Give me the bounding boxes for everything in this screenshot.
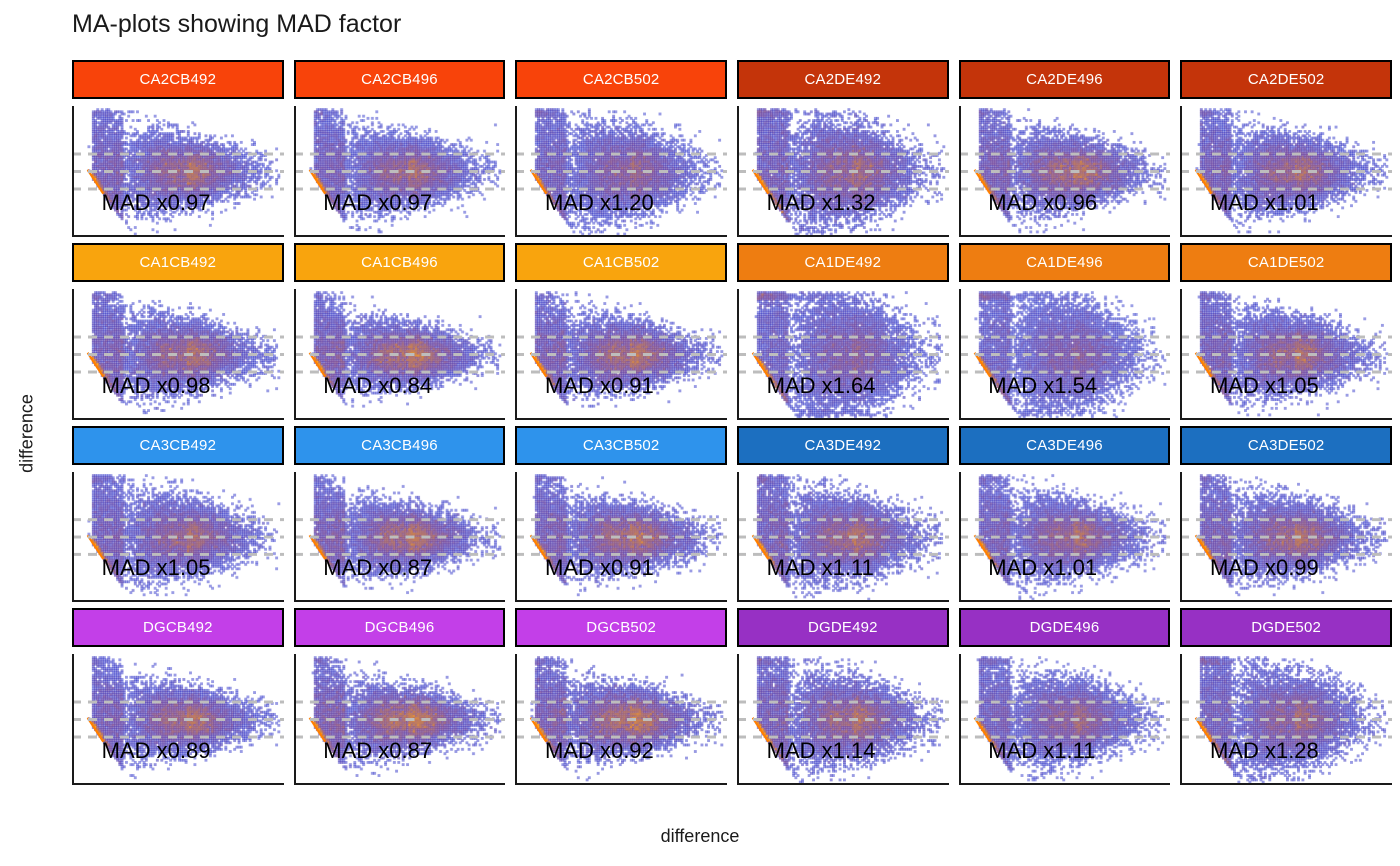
facet-strip-label: CA1CB502 — [583, 254, 660, 271]
facet-strip-dgde502: DGDE502 — [1180, 608, 1392, 647]
panel-left-spine — [959, 289, 961, 420]
facet-strip-label: CA2DE502 — [1248, 71, 1325, 88]
panel-bottom-spine — [959, 418, 1171, 420]
plot-area: MAD x0.84 — [294, 289, 506, 420]
facet-strip-ca3cb496: CA3CB496 — [294, 426, 506, 465]
facet-strip-label: CA3CB502 — [583, 437, 660, 454]
facet-panel-dgcb492: DGCB492MAD x0.89630-3-605101520 — [72, 608, 284, 785]
scatter-density-canvas — [72, 289, 284, 420]
plot-area: MAD x0.9205101520 — [515, 654, 727, 785]
scatter-density-canvas — [294, 106, 506, 237]
panel-bottom-spine — [294, 418, 506, 420]
facet-panel-ca3cb502: CA3CB502MAD x0.91 — [515, 426, 727, 603]
facet-strip-label: CA2CB502 — [583, 71, 660, 88]
plot-area: MAD x0.96 — [959, 106, 1171, 237]
scatter-density-canvas — [959, 289, 1171, 420]
facet-panel-ca1cb502: CA1CB502MAD x0.91 — [515, 243, 727, 420]
panel-bottom-spine — [1180, 418, 1392, 420]
plot-area: MAD x1.64 — [737, 289, 949, 420]
scatter-density-canvas — [959, 654, 1171, 785]
plot-area: MAD x1.54 — [959, 289, 1171, 420]
scatter-density-canvas — [294, 289, 506, 420]
facet-strip-label: DGCB502 — [586, 619, 656, 636]
plot-area: MAD x1.32 — [737, 106, 949, 237]
facet-strip-label: DGDE496 — [1030, 619, 1100, 636]
facet-panel-dgcb496: DGCB496MAD x0.8705101520 — [294, 608, 506, 785]
panel-left-spine — [72, 472, 74, 603]
panel-left-spine — [737, 106, 739, 237]
scatter-density-canvas — [294, 472, 506, 603]
facet-strip-ca2cb492: CA2CB492 — [72, 60, 284, 99]
facet-panel-ca2de496: CA2DE496MAD x0.96 — [959, 60, 1171, 237]
panel-bottom-spine — [294, 235, 506, 237]
panel-left-spine — [515, 106, 517, 237]
facet-strip-label: DGCB492 — [143, 619, 213, 636]
panel-left-spine — [1180, 472, 1182, 603]
panel-left-spine — [515, 289, 517, 420]
facet-strip-ca3de496: CA3DE496 — [959, 426, 1171, 465]
facet-panel-ca2cb492: CA2CB492MAD x0.97630-3-6 — [72, 60, 284, 237]
facet-strip-label: CA1DE502 — [1248, 254, 1325, 271]
panel-bottom-spine — [737, 600, 949, 602]
plot-area: MAD x0.91 — [515, 289, 727, 420]
plot-area: MAD x1.01 — [1180, 106, 1392, 237]
x-axis-title: difference — [0, 826, 1400, 847]
panel-bottom-spine — [959, 235, 1171, 237]
facet-strip-label: CA2CB492 — [140, 71, 217, 88]
facet-strip-ca2cb502: CA2CB502 — [515, 60, 727, 99]
plot-area: MAD x1.05 — [1180, 289, 1392, 420]
facet-panel-dgcb502: DGCB502MAD x0.9205101520 — [515, 608, 727, 785]
facet-strip-ca1de496: CA1DE496 — [959, 243, 1171, 282]
scatter-density-canvas — [737, 472, 949, 603]
facet-strip-ca1cb502: CA1CB502 — [515, 243, 727, 282]
plot-area: MAD x1.2805101520 — [1180, 654, 1392, 785]
facet-panel-ca3de496: CA3DE496MAD x1.01 — [959, 426, 1171, 603]
facet-panel-ca2cb496: CA2CB496MAD x0.97 — [294, 60, 506, 237]
plot-area: MAD x0.8705101520 — [294, 654, 506, 785]
facet-panel-ca3de492: CA3DE492MAD x1.11 — [737, 426, 949, 603]
plot-area: MAD x1.05630-3-6 — [72, 472, 284, 603]
panel-left-spine — [294, 654, 296, 785]
scatter-density-canvas — [515, 472, 727, 603]
plot-area: MAD x0.98630-3-6 — [72, 289, 284, 420]
facet-strip-label: CA3DE496 — [1026, 437, 1103, 454]
facet-strip-label: CA2DE492 — [805, 71, 882, 88]
facet-strip-ca2de502: CA2DE502 — [1180, 60, 1392, 99]
facet-strip-ca3de502: CA3DE502 — [1180, 426, 1392, 465]
facet-strip-dgcb496: DGCB496 — [294, 608, 506, 647]
facet-panel-ca1de496: CA1DE496MAD x1.54 — [959, 243, 1171, 420]
facet-panel-dgde492: DGDE492MAD x1.1405101520 — [737, 608, 949, 785]
plot-area: MAD x0.87 — [294, 472, 506, 603]
facet-strip-label: DGCB496 — [365, 619, 435, 636]
panel-bottom-spine — [72, 418, 284, 420]
facet-strip-ca3de492: CA3DE492 — [737, 426, 949, 465]
panel-bottom-spine — [1180, 600, 1392, 602]
panel-bottom-spine — [72, 235, 284, 237]
facet-grid: CA2CB492MAD x0.97630-3-6CA2CB496MAD x0.9… — [72, 60, 1392, 785]
facet-strip-label: CA1CB492 — [140, 254, 217, 271]
plot-area: MAD x0.91 — [515, 472, 727, 603]
facet-strip-ca1de492: CA1DE492 — [737, 243, 949, 282]
facet-strip-label: CA3CB496 — [361, 437, 438, 454]
panel-left-spine — [959, 654, 961, 785]
facet-strip-ca2de496: CA2DE496 — [959, 60, 1171, 99]
y-axis-title: difference — [17, 224, 38, 644]
panel-left-spine — [294, 472, 296, 603]
page-title: MA-plots showing MAD factor — [72, 8, 401, 40]
plot-area: MAD x1.11 — [737, 472, 949, 603]
scatter-density-canvas — [959, 106, 1171, 237]
scatter-density-canvas — [1180, 106, 1392, 237]
scatter-density-canvas — [515, 106, 727, 237]
facet-panel-ca2de502: CA2DE502MAD x1.01 — [1180, 60, 1392, 237]
facet-panel-ca1de492: CA1DE492MAD x1.64 — [737, 243, 949, 420]
scatter-density-canvas — [515, 654, 727, 785]
panel-left-spine — [72, 106, 74, 237]
facet-panel-ca1de502: CA1DE502MAD x1.05 — [1180, 243, 1392, 420]
facet-panel-ca2cb502: CA2CB502MAD x1.20 — [515, 60, 727, 237]
facet-panel-ca1cb492: CA1CB492MAD x0.98630-3-6 — [72, 243, 284, 420]
facet-panel-dgde502: DGDE502MAD x1.2805101520 — [1180, 608, 1392, 785]
plot-area: MAD x0.97 — [294, 106, 506, 237]
scatter-density-canvas — [294, 654, 506, 785]
panel-left-spine — [294, 289, 296, 420]
panel-left-spine — [959, 472, 961, 603]
panel-left-spine — [737, 289, 739, 420]
facet-strip-dgcb502: DGCB502 — [515, 608, 727, 647]
plot-area: MAD x1.01 — [959, 472, 1171, 603]
facet-strip-label: CA1CB496 — [361, 254, 438, 271]
scatter-density-canvas — [72, 106, 284, 237]
facet-panel-dgde496: DGDE496MAD x1.1105101520 — [959, 608, 1171, 785]
scatter-density-canvas — [737, 289, 949, 420]
facet-strip-ca1cb496: CA1CB496 — [294, 243, 506, 282]
panel-bottom-spine — [515, 600, 727, 602]
facet-strip-label: CA2DE496 — [1026, 71, 1103, 88]
facet-strip-dgde496: DGDE496 — [959, 608, 1171, 647]
plot-area: MAD x1.20 — [515, 106, 727, 237]
plot-area: MAD x0.99 — [1180, 472, 1392, 603]
panel-bottom-spine — [515, 235, 727, 237]
panel-left-spine — [515, 472, 517, 603]
scatter-density-canvas — [515, 289, 727, 420]
facet-strip-dgde492: DGDE492 — [737, 608, 949, 647]
scatter-density-canvas — [72, 472, 284, 603]
facet-strip-ca2cb496: CA2CB496 — [294, 60, 506, 99]
facet-strip-ca1cb492: CA1CB492 — [72, 243, 284, 282]
scatter-density-canvas — [1180, 654, 1392, 785]
panel-left-spine — [1180, 654, 1182, 785]
scatter-density-canvas — [72, 654, 284, 785]
panel-left-spine — [1180, 289, 1182, 420]
facet-panel-ca3cb496: CA3CB496MAD x0.87 — [294, 426, 506, 603]
facet-strip-ca3cb492: CA3CB492 — [72, 426, 284, 465]
facet-strip-dgcb492: DGCB492 — [72, 608, 284, 647]
panel-left-spine — [737, 654, 739, 785]
panel-left-spine — [72, 289, 74, 420]
panel-bottom-spine — [72, 600, 284, 602]
panel-bottom-spine — [1180, 235, 1392, 237]
facet-strip-label: CA3CB492 — [140, 437, 217, 454]
facet-strip-label: CA3DE502 — [1248, 437, 1325, 454]
facet-panel-ca2de492: CA2DE492MAD x1.32 — [737, 60, 949, 237]
scatter-density-canvas — [737, 106, 949, 237]
plot-area: MAD x1.1105101520 — [959, 654, 1171, 785]
scatter-density-canvas — [1180, 472, 1392, 603]
facet-strip-ca2de492: CA2DE492 — [737, 60, 949, 99]
facet-panel-ca3cb492: CA3CB492MAD x1.05630-3-6 — [72, 426, 284, 603]
panel-left-spine — [72, 654, 74, 785]
facet-strip-label: CA1DE492 — [805, 254, 882, 271]
plot-area: MAD x1.1405101520 — [737, 654, 949, 785]
facet-strip-label: CA2CB496 — [361, 71, 438, 88]
scatter-density-canvas — [959, 472, 1171, 603]
scatter-density-canvas — [1180, 289, 1392, 420]
panel-left-spine — [959, 106, 961, 237]
ma-plot-figure: MA-plots showing MAD factor CA2CB492MAD … — [0, 0, 1400, 866]
facet-panel-ca3de502: CA3DE502MAD x0.99 — [1180, 426, 1392, 603]
panel-bottom-spine — [737, 235, 949, 237]
panel-left-spine — [294, 106, 296, 237]
scatter-density-canvas — [737, 654, 949, 785]
plot-area: MAD x0.89630-3-605101520 — [72, 654, 284, 785]
panel-bottom-spine — [737, 418, 949, 420]
facet-strip-label: CA3DE492 — [805, 437, 882, 454]
facet-strip-label: DGDE492 — [808, 619, 878, 636]
facet-strip-label: CA1DE496 — [1026, 254, 1103, 271]
plot-area: MAD x0.97630-3-6 — [72, 106, 284, 237]
panel-left-spine — [515, 654, 517, 785]
panel-bottom-spine — [515, 418, 727, 420]
panel-left-spine — [1180, 106, 1182, 237]
facet-strip-ca3cb502: CA3CB502 — [515, 426, 727, 465]
facet-strip-ca1de502: CA1DE502 — [1180, 243, 1392, 282]
facet-strip-label: DGDE502 — [1251, 619, 1321, 636]
panel-bottom-spine — [959, 600, 1171, 602]
facet-panel-ca1cb496: CA1CB496MAD x0.84 — [294, 243, 506, 420]
panel-left-spine — [737, 472, 739, 603]
panel-bottom-spine — [294, 600, 506, 602]
